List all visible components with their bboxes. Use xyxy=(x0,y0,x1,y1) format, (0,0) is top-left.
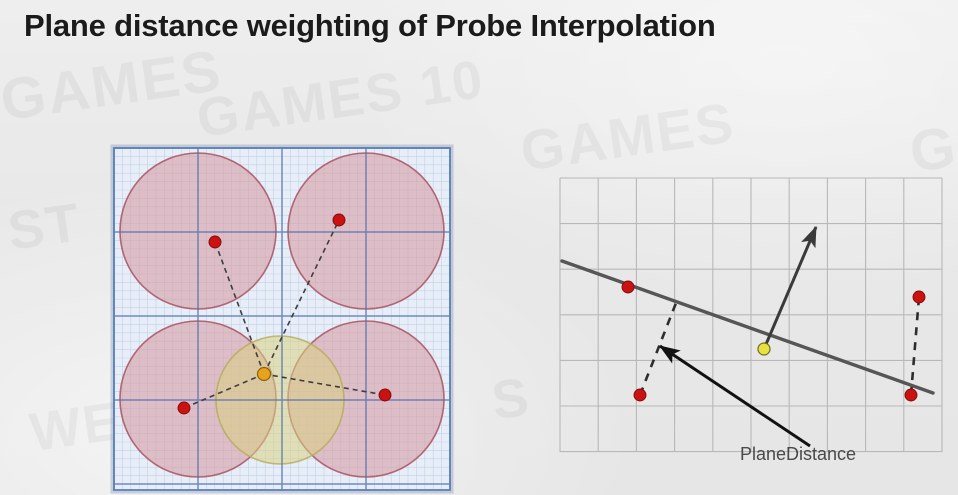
plane-distance-figure: PlaneDistance xyxy=(548,168,952,478)
probe-point-top-left xyxy=(209,236,221,248)
plane-distance-svg: PlaneDistance xyxy=(548,168,952,478)
plane-line xyxy=(562,261,933,393)
probe-point-upper-right xyxy=(913,291,925,303)
plane-distance-label: PlaneDistance xyxy=(740,444,856,464)
plane-origin-point xyxy=(758,343,770,355)
plane-distance-line-right xyxy=(911,297,919,395)
probe-point-lower-right xyxy=(905,389,917,401)
probe-point-upper-left xyxy=(622,281,634,293)
probe-interpolation-figure xyxy=(110,143,454,495)
reference-grid xyxy=(560,178,942,452)
probe-point-bottom-left xyxy=(178,402,190,414)
sample-point xyxy=(258,368,271,381)
probe-point-bottom-right xyxy=(379,389,391,401)
probe-point-lower-left xyxy=(634,389,646,401)
plane-distance-callout-arrow xyxy=(660,346,810,446)
slide-canvas: GAMESGAMES 10GAMESGSTSWE Plane distance … xyxy=(0,0,958,495)
watermark-text: ST xyxy=(4,191,85,263)
plane-distance-line-left xyxy=(640,303,676,395)
plane-normal-arrow xyxy=(764,227,816,349)
probe-point-top-right xyxy=(333,214,345,226)
probe-grid-svg xyxy=(110,143,454,495)
watermark-text: GAMES 10 xyxy=(193,48,488,150)
watermark-text: GAMES xyxy=(0,37,226,134)
watermark-text: S xyxy=(488,366,534,433)
page-title: Plane distance weighting of Probe Interp… xyxy=(24,8,716,44)
